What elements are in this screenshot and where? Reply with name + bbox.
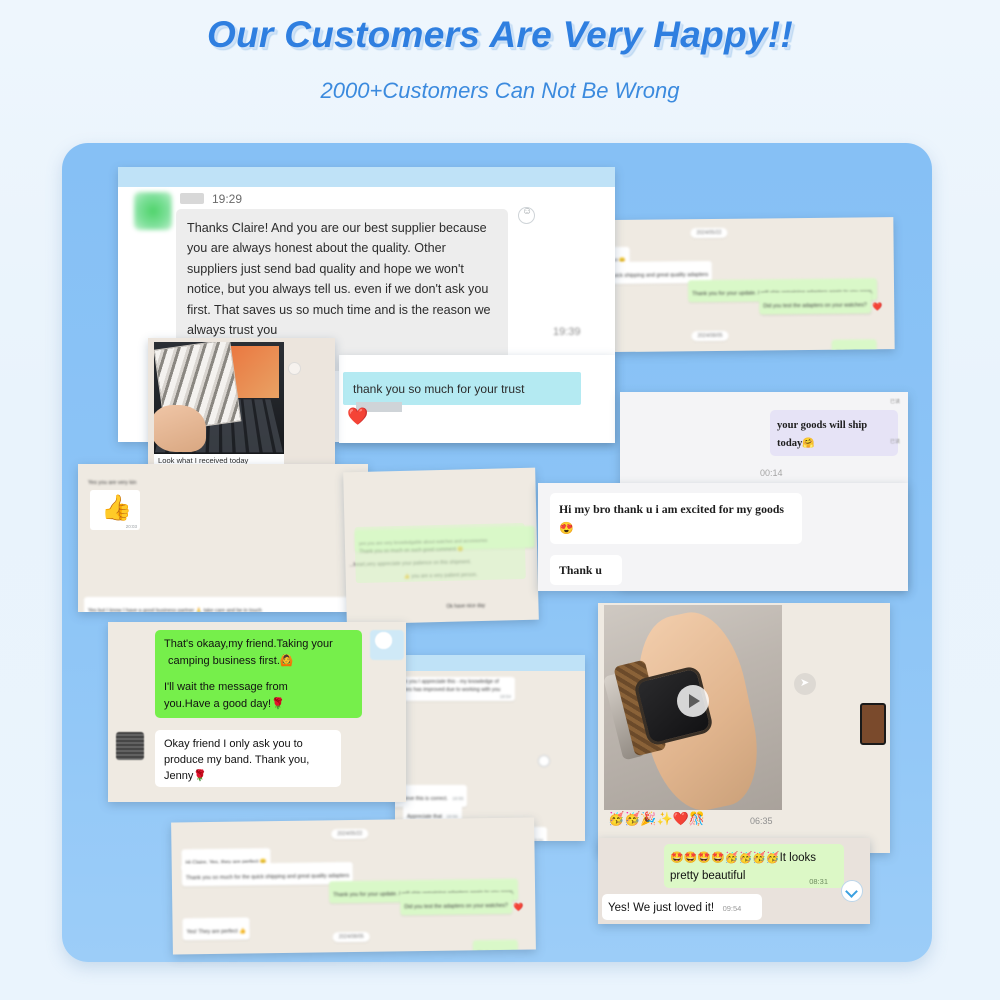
heart-reaction: ❤️ bbox=[347, 407, 368, 427]
record-icon[interactable] bbox=[538, 755, 550, 767]
page-title: Our Customers Are Very Happy!! bbox=[0, 14, 1000, 56]
chat-date-bottom: 2024/08/05 bbox=[691, 331, 728, 341]
white-time: 09:54 bbox=[723, 904, 742, 913]
avatar bbox=[116, 732, 144, 760]
message-time: 19:29 bbox=[212, 192, 242, 206]
loved-it-bubble[interactable]: Yes! We just loved it! 09:54 bbox=[602, 894, 762, 920]
produce-band-bubble[interactable]: Okay friend I only ask you to produce my… bbox=[155, 730, 341, 787]
chat-bubble-outgoing[interactable]: Did you test the adapters on your watche… bbox=[759, 291, 871, 314]
thanku-text: Thank u bbox=[559, 563, 602, 577]
avatar bbox=[134, 192, 172, 230]
heart-reaction: ❤️ bbox=[513, 903, 523, 912]
page-root: Our Customers Are Very Happy!! 2000+Cust… bbox=[0, 0, 1000, 1000]
chat-bubble[interactable]: Yes! They are perfect 👍 bbox=[182, 917, 249, 940]
rose-emoji: 🌹 bbox=[193, 769, 207, 782]
chat-date-bottom: 2024/08/05 bbox=[333, 932, 370, 943]
heart-reaction: ❤️ bbox=[872, 302, 882, 311]
card-adapters-bottom[interactable]: 2024/05/22 Hi Claire, Yes, they are perf… bbox=[171, 817, 536, 954]
chat-date-top: 2024/05/22 bbox=[331, 829, 368, 840]
sticker-bubble[interactable]: 👍 20:03 bbox=[90, 490, 140, 530]
card-excited-reply[interactable]: Hi my bro thank u i am excited for my go… bbox=[538, 483, 908, 591]
page-subtitle: 2000+Customers Can Not Be Wrong bbox=[0, 78, 1000, 104]
video-time: 06:35 bbox=[750, 816, 773, 826]
card-camping[interactable]: That's okaay,my friend.Taking your campi… bbox=[108, 622, 406, 802]
produce-line-2: produce my band. Thank you, bbox=[164, 753, 332, 769]
card-trust[interactable]: thank you so much for your trust ❤️ bbox=[339, 355, 615, 443]
hug-emoji: 🤗 bbox=[802, 438, 814, 449]
produce-line-1: Okay friend I only ask you to bbox=[164, 737, 332, 753]
scroll-down-button[interactable] bbox=[841, 880, 863, 902]
card-kind[interactable]: Yes you are very kin 👍 20:03 Yes but I k… bbox=[78, 464, 368, 612]
chat-date-top: 2024/05/22 bbox=[690, 228, 727, 238]
reaction-row: 🥳🥳🎉✨❤️🎊 bbox=[608, 812, 705, 827]
card-loved-it[interactable]: 🤩🤩🤩🤩🥳🥳🥳🥳It looks pretty beautiful 08:31 … bbox=[598, 838, 870, 924]
camping-line-1: That's okaay,my friend.Taking your bbox=[164, 637, 353, 653]
green-bubble-bg bbox=[355, 523, 526, 583]
green-time: 08:31 bbox=[809, 877, 828, 886]
patient-line-5: Ok have nice day bbox=[446, 603, 485, 611]
ship-today-bubble[interactable]: your goods will ship today🤗 bbox=[770, 410, 898, 456]
camping-line-2: camping business first.🙆 bbox=[164, 653, 353, 670]
card-knowledge[interactable]: Thank you I appreciate this - my knowled… bbox=[395, 655, 585, 841]
camping-line-4: you.Have a good day!🌹 bbox=[164, 696, 353, 713]
card-watch-video[interactable]: 🥳🥳🎉✨❤️🎊 06:35 ➤ bbox=[598, 603, 890, 853]
pretty-beautiful-bubble[interactable]: 🤩🤩🤩🤩🥳🥳🥳🥳It looks pretty beautiful 08:31 bbox=[664, 844, 844, 888]
excited-text: Hi my bro thank u i am excited for my go… bbox=[559, 502, 784, 535]
rose-emoji: 🌹 bbox=[271, 697, 285, 710]
play-button[interactable] bbox=[677, 685, 709, 717]
trust-text: thank you so much for your trust bbox=[353, 382, 524, 396]
sticker-image bbox=[370, 630, 404, 660]
excited-bubble[interactable]: Hi my bro thank u i am excited for my go… bbox=[550, 493, 802, 544]
trust-time: 19:39 bbox=[553, 326, 581, 338]
name-redaction bbox=[180, 193, 204, 204]
produce-line-3: Jenny🌹 bbox=[164, 768, 332, 785]
read-receipt: 已读 bbox=[890, 438, 900, 445]
kind-line: Yes you are very kin bbox=[88, 480, 136, 488]
thumbs-up-sticker: 👍 bbox=[101, 493, 132, 523]
sticker-time: 20:03 bbox=[126, 524, 137, 529]
forward-icon[interactable]: ➤ bbox=[794, 673, 816, 695]
chat-bubble[interactable]: Thank you so much for the quick shipping… bbox=[182, 862, 354, 886]
read-receipt: 已读 bbox=[890, 398, 900, 405]
ship-today-time: 00:14 bbox=[760, 468, 783, 478]
emoji-reaction-button[interactable]: ☺ bbox=[518, 207, 535, 224]
chat-bubble[interactable]: Thank you I appreciate this - my knowled… bbox=[395, 677, 515, 701]
card-patient[interactable]: yes you are very knowledgable about watc… bbox=[343, 468, 539, 625]
trust-bubble[interactable]: thank you so much for your trust bbox=[343, 372, 581, 405]
card-topbar bbox=[118, 167, 615, 187]
received-bands-photo[interactable] bbox=[154, 342, 284, 454]
celebration-emojis: 🤩🤩🤩🤩🥳🥳🥳🥳 bbox=[670, 851, 780, 864]
chat-bubble-outgoing[interactable]: Did you test the adapters on your watche… bbox=[400, 892, 512, 916]
thumbnail-preview[interactable] bbox=[860, 703, 886, 745]
refresh-icon[interactable] bbox=[288, 362, 301, 375]
camping-line-3: I'll wait the message from bbox=[164, 680, 353, 696]
message-text: Thanks Claire! And you are our best supp… bbox=[187, 218, 497, 340]
kind-footer-bubble[interactable]: Yes but I know I have a good business pa… bbox=[84, 597, 362, 612]
card-topbar bbox=[395, 655, 585, 671]
loved-it-text: Yes! We just loved it! bbox=[608, 902, 714, 914]
thanku-bubble[interactable]: Thank u bbox=[550, 555, 622, 585]
camping-green-bubble[interactable]: That's okaay,my friend.Taking your campi… bbox=[155, 630, 362, 718]
ship-today-text: your goods will ship today bbox=[777, 420, 867, 449]
watch-video-thumbnail[interactable] bbox=[604, 605, 782, 810]
shy-emoji: 🙆 bbox=[280, 654, 294, 667]
